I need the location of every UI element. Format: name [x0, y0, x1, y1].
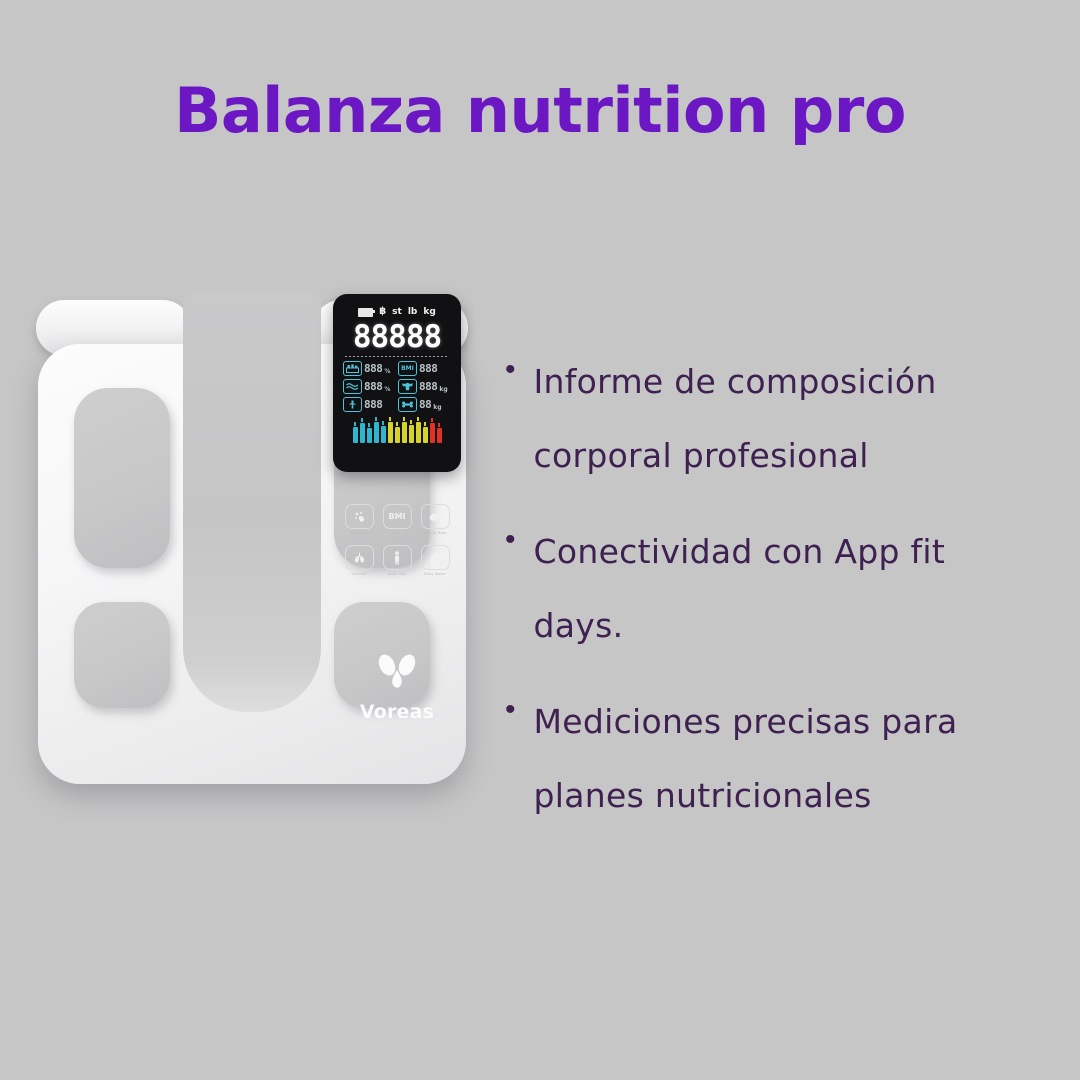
bullet-icon: •: [505, 685, 516, 735]
gauge-bar-fill: [437, 428, 442, 443]
gauge-bar: [353, 417, 358, 443]
gauge-bar: [388, 417, 393, 443]
body-water-icon: [421, 545, 450, 570]
metric-value: 888: [364, 362, 382, 375]
gauge-bar-fill: [367, 428, 372, 443]
unit-lb: lb: [408, 307, 418, 317]
feature-item: •Informe de composición corporal profesi…: [505, 345, 1045, 493]
lcd-main-value: 88888: [343, 321, 451, 353]
voreas-mark-icon: [373, 652, 421, 694]
body-age-icon: [343, 397, 362, 412]
metric-unit: kg: [433, 404, 441, 411]
gauge-bar-fill: [430, 423, 435, 443]
gauge-bar-fill: [360, 423, 365, 443]
gauge-marker-icon: [417, 417, 419, 421]
feature-key: Body Fat%: [341, 504, 377, 535]
metric-value: 888: [419, 380, 437, 393]
feature-key-label: BMI: [379, 531, 415, 535]
gauge-marker-icon: [410, 420, 412, 424]
bullet-icon: •: [505, 515, 516, 565]
metric-value: 88: [419, 398, 431, 411]
gauge-bar-fill: [388, 422, 393, 443]
feature-key-label: Muscle Rate: [417, 531, 453, 535]
gauge-marker-icon: [382, 421, 384, 425]
lcd-status-row: ฿ st lb kg: [343, 306, 451, 318]
feature-icon-keys: Body Fat%BMIBMIMuscle RateVisceralBody A…: [341, 504, 453, 576]
gauge-bar: [423, 417, 428, 443]
electrode-pad-top-left: [74, 388, 170, 568]
gauge-bar: [360, 417, 365, 443]
gauge-bar: [367, 417, 372, 443]
feature-text: Informe de composición corporal profesio…: [534, 345, 1045, 493]
gauge-bar-fill: [423, 427, 428, 443]
metric-muscle: 888 kg: [398, 379, 451, 394]
gauge-bar: [395, 417, 400, 443]
feature-list: •Informe de composición corporal profesi…: [505, 345, 1045, 855]
lcd-gauge-bars: [343, 417, 451, 443]
gauge-bar: [437, 417, 442, 443]
gauge-marker-icon: [361, 418, 363, 422]
visceral-icon: [345, 545, 374, 570]
feature-key-label: Visceral: [341, 572, 377, 576]
feature-key: Body Water: [417, 545, 453, 576]
feature-item: •Conectividad con App fit days.: [505, 515, 1045, 663]
lcd-divider: [345, 356, 449, 357]
metric-unit: %: [384, 386, 390, 393]
gauge-bar-fill: [395, 427, 400, 443]
gauge-bar: [416, 417, 421, 443]
bmi-icon: BMI: [398, 361, 417, 376]
gauge-bar-fill: [374, 422, 379, 443]
gauge-bar: [402, 417, 407, 443]
metric-value: 888: [364, 380, 382, 393]
feature-key: Visceral: [341, 545, 377, 576]
brand-name: Voreas: [343, 701, 451, 723]
lcd-metrics-grid: 888 % BMI 888 888: [343, 361, 451, 412]
bluetooth-icon: ฿: [379, 307, 386, 317]
metric-body-fat: 888 %: [343, 361, 396, 376]
feature-key-label: Body Water: [417, 572, 453, 576]
metric-unit: %: [384, 368, 390, 375]
metric-body-age: 888: [343, 397, 396, 412]
metric-body-water: 888 %: [343, 379, 396, 394]
gauge-marker-icon: [375, 417, 377, 421]
feature-text: Mediciones precisas para planes nutricio…: [534, 685, 1045, 833]
feature-item: •Mediciones precisas para planes nutrici…: [505, 685, 1045, 833]
metric-value: 888: [419, 362, 437, 375]
bone-mass-icon: [398, 397, 417, 412]
gauge-bar-fill: [402, 422, 407, 443]
feature-key-label: Body Fat%: [341, 531, 377, 535]
unit-st: st: [392, 307, 402, 317]
metric-bmi: BMI 888: [398, 361, 451, 376]
bmi-icon: BMI: [383, 504, 412, 529]
gauge-bar-fill: [409, 425, 414, 443]
body-water-icon: [343, 379, 362, 394]
feature-key: Muscle Rate: [417, 504, 453, 535]
gauge-marker-icon: [368, 423, 370, 427]
lcd-display: ฿ st lb kg 88888 888 %: [333, 294, 461, 472]
gauge-bar: [409, 417, 414, 443]
gauge-bar-fill: [416, 422, 421, 443]
feature-key: BMIBMI: [379, 504, 415, 535]
scale-center-strip: ฿ st lb kg 88888 888 %: [183, 292, 321, 712]
gauge-marker-icon: [431, 418, 433, 422]
bullet-icon: •: [505, 345, 516, 395]
gauge-marker-icon: [403, 417, 405, 421]
feature-key: Body Age: [379, 545, 415, 576]
body-fat-icon: [345, 504, 374, 529]
muscle-rate-icon: [421, 504, 450, 529]
feature-text: Conectividad con App fit days.: [534, 515, 1045, 663]
page-title: Balanza nutrition pro: [0, 74, 1080, 147]
product-image-scale: ฿ st lb kg 88888 888 %: [28, 288, 476, 800]
feature-key-label: Body Age: [379, 572, 415, 576]
electrode-pad-bottom-left: [74, 602, 170, 708]
metric-unit: kg: [439, 386, 447, 393]
gauge-marker-icon: [354, 422, 356, 426]
unit-kg: kg: [423, 307, 435, 317]
metric-bone-mass: 88 kg: [398, 397, 451, 412]
body-age-icon: [383, 545, 412, 570]
gauge-bar: [381, 417, 386, 443]
muscle-icon: [398, 379, 417, 394]
gauge-marker-icon: [424, 422, 426, 426]
scale-body: ฿ st lb kg 88888 888 %: [38, 344, 466, 784]
gauge-marker-icon: [396, 422, 398, 426]
gauge-marker-icon: [389, 417, 391, 421]
gauge-bar-fill: [353, 427, 358, 443]
brand-logo: Voreas: [343, 652, 451, 723]
gauge-bar: [374, 417, 379, 443]
gauge-bar: [430, 417, 435, 443]
battery-icon: [358, 308, 373, 317]
body-fat-icon: [343, 361, 362, 376]
metric-value: 888: [364, 398, 382, 411]
gauge-marker-icon: [438, 423, 440, 427]
gauge-bar-fill: [381, 426, 386, 443]
